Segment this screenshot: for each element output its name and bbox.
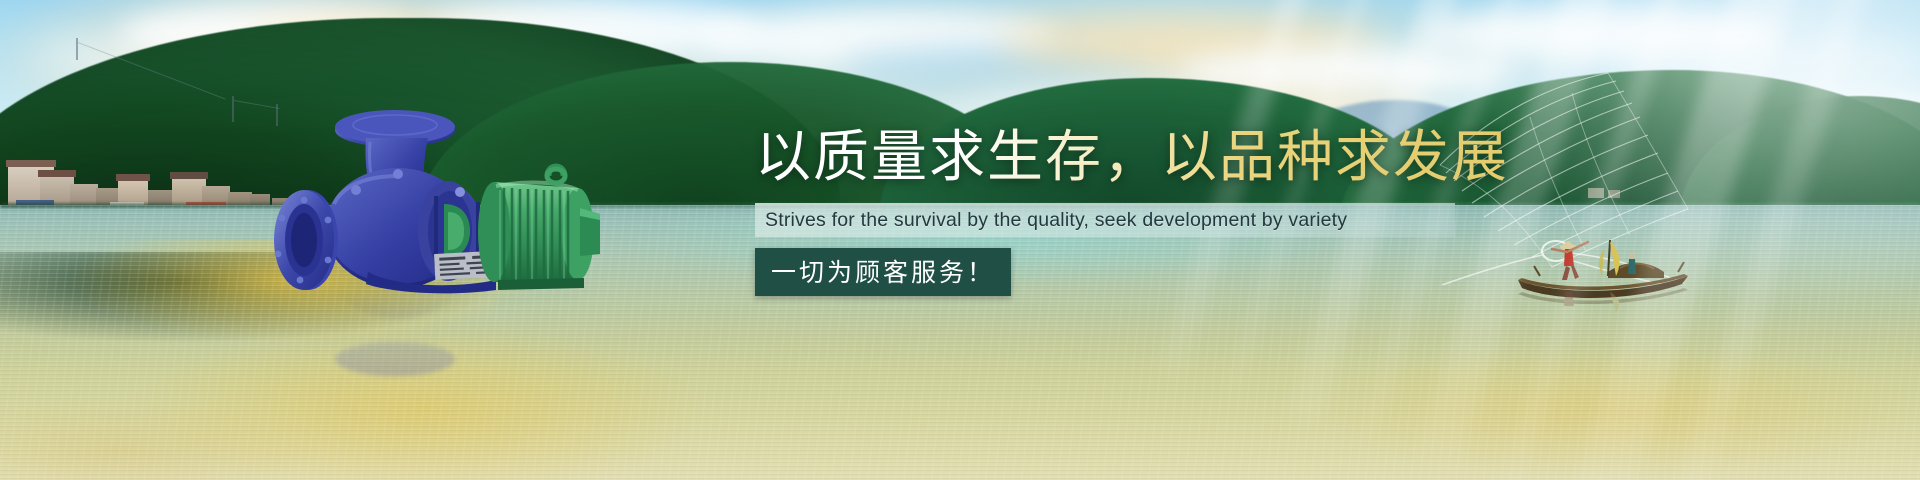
hero-banner: 以质量求生存，以品种求发展 Strives for the survival b… <box>0 0 1920 480</box>
banner-headline: 以质量求生存，以品种求发展 <box>755 126 1515 189</box>
centrifugal-pump-product <box>248 104 608 294</box>
pump-water-reflection <box>248 290 608 382</box>
subtitle-bar: Strives for the survival by the quality,… <box>755 203 1455 237</box>
banner-text-block: 以质量求生存，以品种求发展 Strives for the survival b… <box>755 126 1515 296</box>
service-badge-label: 一切为顾客服务！ <box>771 259 995 287</box>
service-badge: 一切为顾客服务！ <box>755 248 1011 296</box>
fisherman-boat <box>1512 232 1702 322</box>
banner-subtitle: Strives for the survival by the quality,… <box>755 209 1347 232</box>
